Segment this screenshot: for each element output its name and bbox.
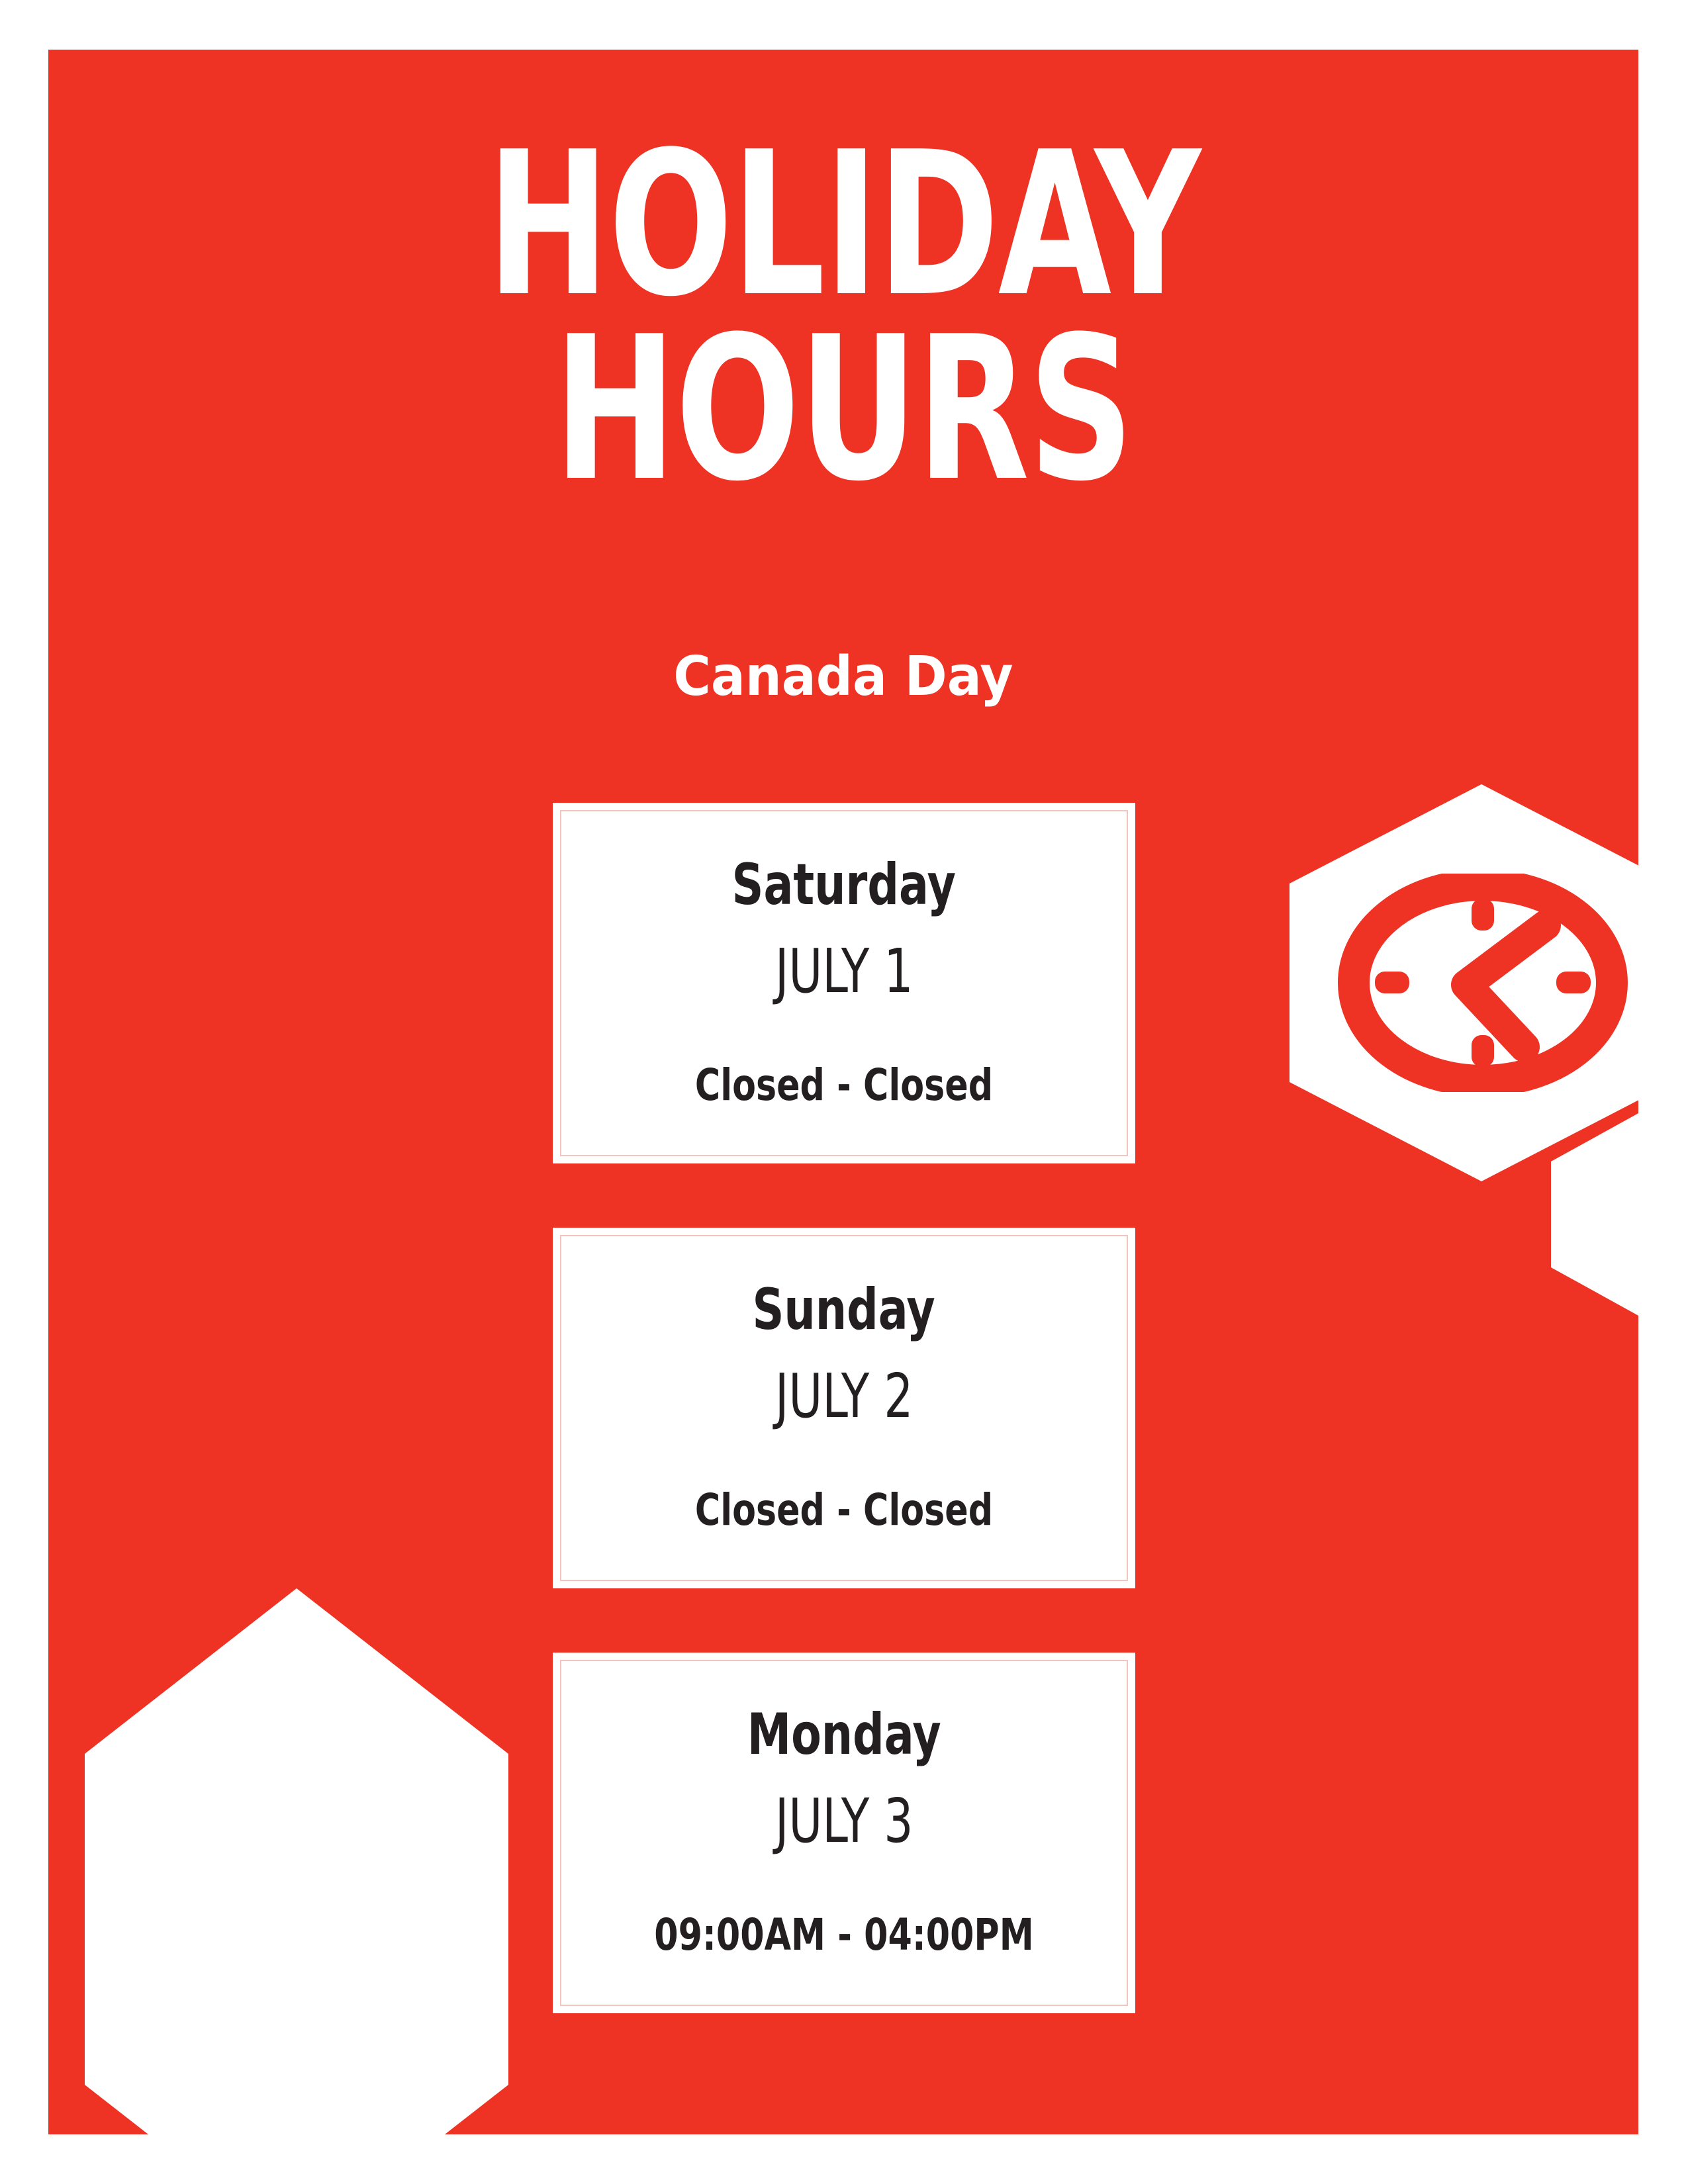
clock-icon (1334, 874, 1632, 1092)
schedule-weekday: Saturday (732, 856, 956, 913)
schedule-card: Monday JULY 3 09:00AM - 04:00PM (553, 1653, 1135, 2013)
page-title: HOLIDAY HOURS (48, 132, 1638, 502)
schedule-weekday: Monday (747, 1706, 941, 1763)
hexagon-icon-small (1551, 1109, 1638, 1320)
schedule-card: Sunday JULY 2 Closed - Closed (553, 1228, 1135, 1588)
holiday-hours-poster: HOLIDAY HOURS Canada Day Saturday JULY 1… (48, 50, 1638, 2134)
schedule-hours: 09:00AM - 04:00PM (595, 1913, 1093, 1957)
schedule-card-inner: Monday JULY 3 09:00AM - 04:00PM (560, 1660, 1128, 2006)
schedule-date: JULY 3 (775, 1791, 914, 1852)
schedule-card-inner: Saturday JULY 1 Closed - Closed (560, 810, 1128, 1156)
schedule-card: Saturday JULY 1 Closed - Closed (553, 803, 1135, 1163)
hexagon-icon-bottom-left (85, 1588, 508, 2134)
poster-subtitle: Canada Day (96, 645, 1591, 708)
title-line-holiday: HOLIDAY (191, 132, 1495, 317)
schedule-hours: Closed - Closed (595, 1488, 1093, 1532)
schedule-date: JULY 2 (775, 1366, 914, 1427)
schedule-card-inner: Sunday JULY 2 Closed - Closed (560, 1235, 1128, 1581)
schedule-weekday: Sunday (753, 1281, 935, 1338)
schedule-date: JULY 1 (775, 941, 914, 1002)
schedule-list: Saturday JULY 1 Closed - Closed Sunday J… (553, 803, 1135, 2077)
title-line-hours: HOURS (191, 317, 1495, 502)
schedule-hours: Closed - Closed (595, 1064, 1093, 1107)
